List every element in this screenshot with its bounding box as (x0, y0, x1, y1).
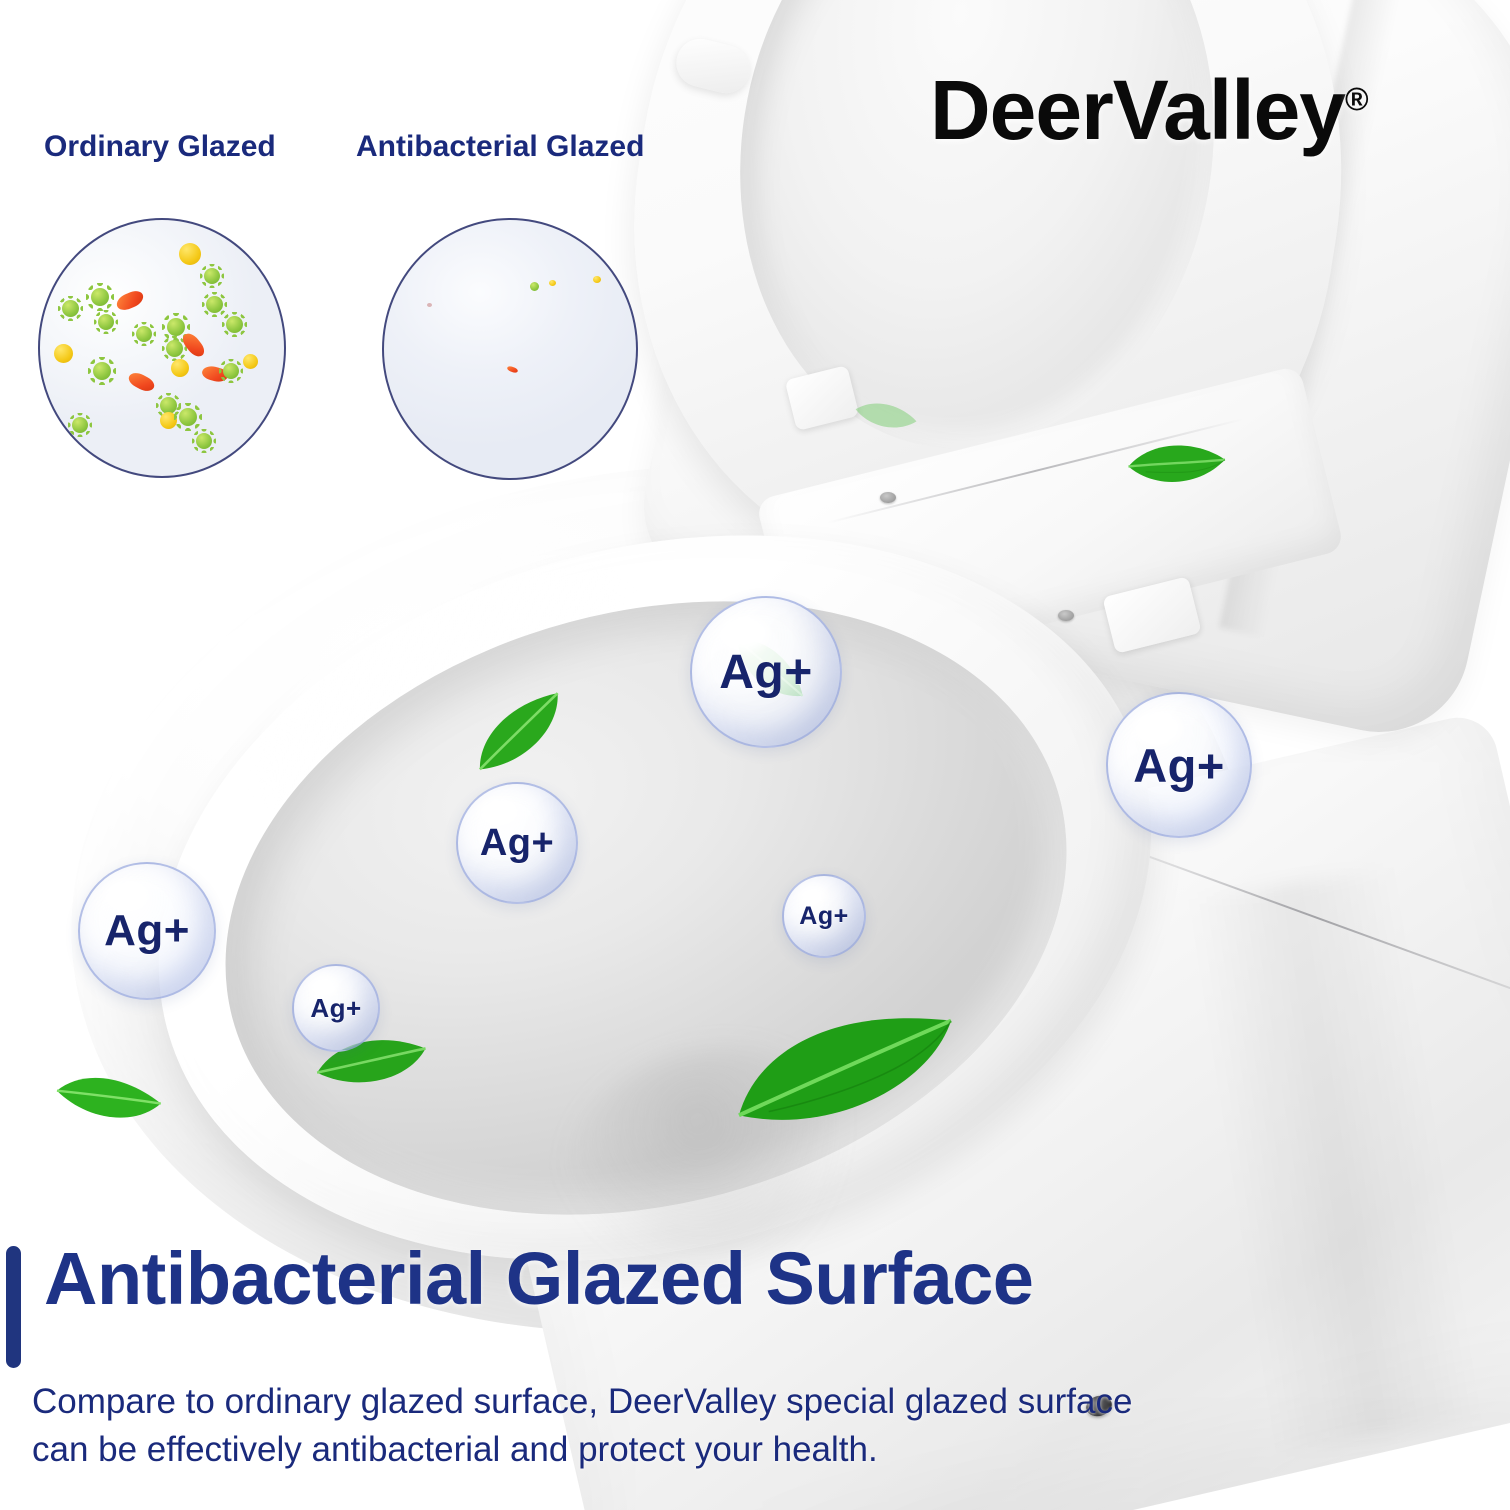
ion-bubble-label: Ag+ (310, 993, 361, 1024)
ion-bubble-label: Ag+ (104, 906, 190, 956)
brand-logo-text: DeerValley (930, 63, 1345, 157)
ion-bubble-label: Ag+ (799, 902, 848, 931)
germ-icon (171, 359, 189, 377)
germ-icon (179, 243, 201, 265)
germ-icon (72, 417, 88, 433)
germ-icon (62, 300, 79, 317)
ion-bubble-icon: Ag+ (782, 874, 866, 958)
hinge-screw-icon (1058, 610, 1074, 621)
registered-mark-icon: ® (1345, 81, 1368, 117)
germ-icon (226, 316, 243, 333)
germ-icon (243, 354, 258, 369)
page-title: Antibacterial Glazed Surface (44, 1236, 1033, 1321)
germ-icon (167, 318, 185, 336)
ordinary-glazed-swatch (38, 218, 286, 478)
germ-icon (196, 433, 212, 449)
brand-logo: DeerValley® (930, 62, 1368, 159)
germ-icon (98, 314, 114, 330)
antibacterial-glazed-swatch (382, 218, 638, 480)
hinge-screw-icon (880, 492, 896, 503)
ion-bubble-icon: Ag+ (1106, 692, 1252, 838)
ion-bubble-icon: Ag+ (690, 596, 842, 748)
ion-bubble-icon: Ag+ (78, 862, 216, 1000)
germ-icon (223, 363, 239, 379)
germ-icon (427, 303, 432, 307)
germ-icon (54, 344, 73, 363)
germ-icon (91, 288, 109, 306)
germ-icon (204, 268, 220, 284)
description-line-1: Compare to ordinary glazed surface, Deer… (32, 1378, 1322, 1426)
antibacterial-glazed-label: Antibacterial Glazed (356, 130, 644, 164)
description-text: Compare to ordinary glazed surface, Deer… (32, 1378, 1322, 1475)
ion-bubble-icon: Ag+ (292, 964, 380, 1052)
germ-icon (93, 362, 111, 380)
ion-bubble-label: Ag+ (719, 645, 813, 700)
germ-icon (126, 369, 156, 394)
ion-bubble-label: Ag+ (1133, 738, 1225, 793)
ion-bubble-label: Ag+ (480, 822, 554, 865)
description-line-2: can be effectively antibacterial and pro… (32, 1426, 1322, 1474)
germ-icon (179, 408, 197, 426)
germ-icon (506, 365, 518, 374)
germ-icon (136, 326, 152, 342)
glaze-comparison: Ordinary Glazed Antibacterial Glazed (0, 130, 700, 490)
germ-icon (206, 296, 223, 313)
ion-bubble-icon: Ag+ (456, 782, 578, 904)
germ-icon (593, 276, 601, 283)
accent-bar (6, 1246, 21, 1368)
product-feature-image: Ag+ Ag+ Ag+ Ag+ Ag+ Ag+ Ordinary Glazed … (0, 0, 1510, 1510)
ordinary-glazed-label: Ordinary Glazed (44, 130, 276, 164)
germ-icon (114, 288, 146, 312)
germ-icon (166, 340, 183, 357)
germ-icon (549, 280, 556, 286)
germ-icon (530, 282, 539, 291)
